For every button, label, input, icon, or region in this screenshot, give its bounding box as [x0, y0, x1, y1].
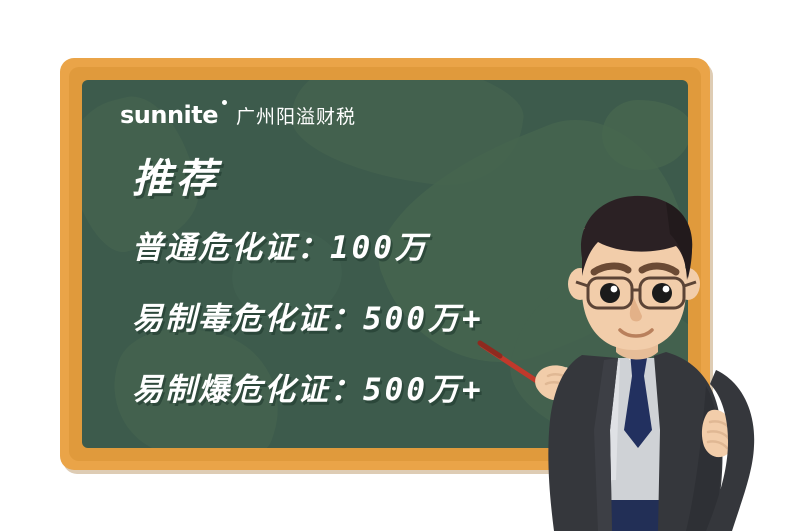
board-line-3-amount: 500万+: [363, 372, 484, 408]
brand-row: sunnite 广州阳溢财税: [120, 102, 688, 132]
board-line-2-label: 易制毒危化证：: [132, 301, 363, 337]
blackboard-surface: sunnite 广州阳溢财税 推荐 普通危化证：100万 易制毒危化证：500万…: [82, 80, 688, 448]
brand-company-name: 广州阳溢财税: [236, 102, 356, 129]
board-line-1-amount: 100万: [330, 230, 429, 266]
brand-logo-text: sunnite: [120, 101, 218, 129]
board-line-2: 易制毒危化证：500万+: [132, 293, 688, 338]
board-line-1: 普通危化证：100万: [132, 222, 688, 267]
board-content: sunnite 广州阳溢财税 推荐 普通危化证：100万 易制毒危化证：500万…: [82, 80, 688, 448]
board-line-1-label: 普通危化证：: [132, 230, 330, 266]
board-headline: 推荐: [132, 146, 688, 204]
brand-logo: sunnite: [120, 103, 218, 127]
board-line-3-label: 易制爆危化证：: [132, 372, 363, 408]
board-line-3: 易制爆危化证：500万+: [132, 364, 688, 409]
brand-dot-icon: [222, 100, 227, 105]
board-line-2-amount: 500万+: [363, 301, 484, 337]
blackboard-frame: sunnite 广州阳溢财税 推荐 普通危化证：100万 易制毒危化证：500万…: [60, 58, 710, 470]
poster-canvas: sunnite 广州阳溢财税 推荐 普通危化证：100万 易制毒危化证：500万…: [0, 0, 800, 531]
